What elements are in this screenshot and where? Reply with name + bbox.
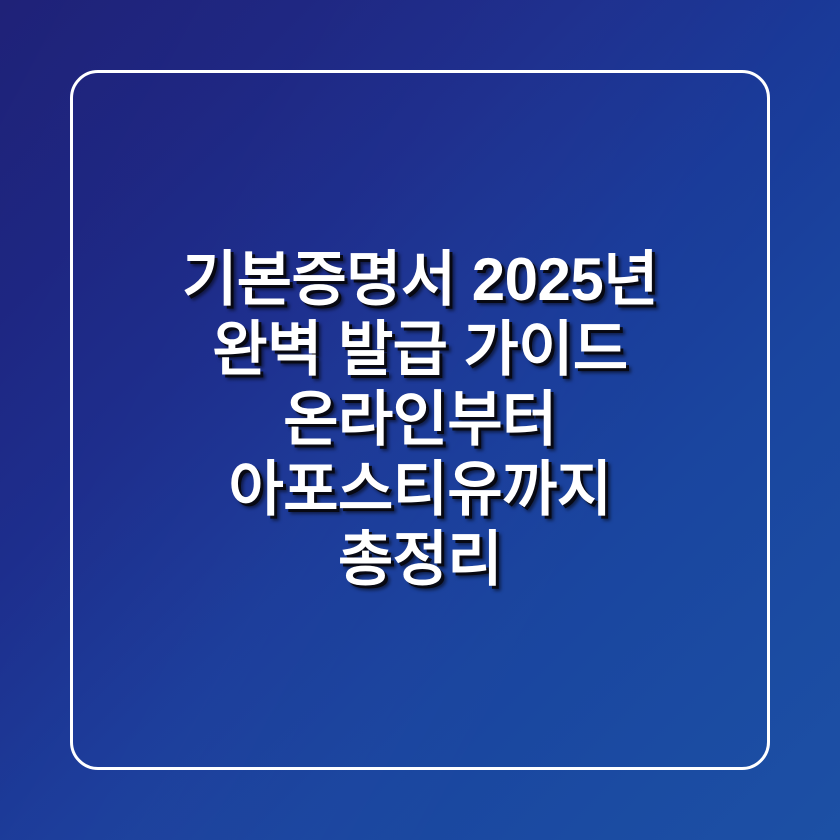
title-line-1: 기본증명서 2025년 bbox=[182, 245, 658, 315]
title-line-2: 완벽 발급 가이드 bbox=[212, 315, 627, 385]
thumbnail-card: 기본증명서 2025년 완벽 발급 가이드 온라인부터 아포스티유까지 총정리 bbox=[0, 0, 840, 840]
title-block: 기본증명서 2025년 완벽 발급 가이드 온라인부터 아포스티유까지 총정리 bbox=[0, 0, 840, 840]
title-line-3: 온라인부터 bbox=[283, 385, 557, 455]
title-line-5: 총정리 bbox=[338, 525, 502, 595]
title-line-4: 아포스티유까지 bbox=[229, 455, 612, 525]
